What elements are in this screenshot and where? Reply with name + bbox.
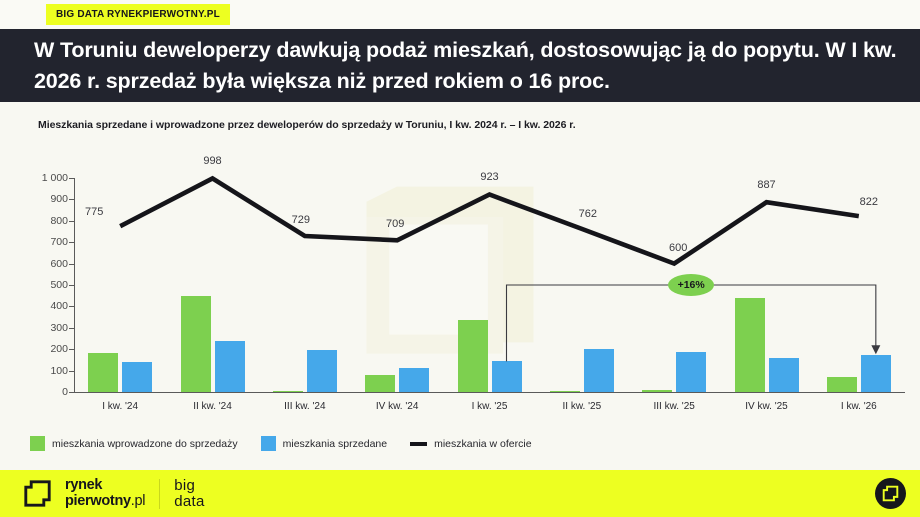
headline-band: W Toruniu deweloperzy dawkują podaż mies…	[0, 29, 920, 102]
bigdata-line-1: big	[174, 478, 204, 493]
chart-subtitle: Mieszkania sprzedane i wprowadzone przez…	[38, 119, 576, 131]
legend-item[interactable]: mieszkania wprowadzone do sprzedaży	[30, 436, 238, 451]
brand-tag: BIG DATA RYNEKPIERWOTNY.PL	[46, 4, 230, 25]
logo-line-1: rynek	[65, 478, 145, 494]
plot-region: I kw. '24II kw. '24III kw. '24IV kw. '24…	[0, 150, 920, 420]
chart-legend: mieszkania wprowadzone do sprzedażymiesz…	[30, 436, 546, 451]
logo-suffix: .pl	[131, 493, 145, 509]
black-line-icon	[410, 442, 427, 446]
legend-item-label: mieszkania wprowadzone do sprzedaży	[52, 438, 238, 450]
infographic-page: BIG DATA RYNEKPIERWOTNY.PL W Toruniu dew…	[0, 0, 920, 517]
growth-badge: +16%	[668, 274, 714, 296]
rynekpierwotny-mark-icon	[882, 485, 899, 502]
bigdata-wordmark: big data	[174, 478, 204, 509]
legend-item-label: mieszkania w ofercie	[434, 438, 531, 450]
rynekpierwotny-logo-icon	[24, 480, 51, 507]
legend-item[interactable]: mieszkania w ofercie	[410, 438, 531, 450]
brand-logo-group[interactable]: rynek pierwotny.pl big data	[24, 478, 205, 509]
bigdata-line-2: data	[174, 494, 204, 509]
growth-annotation-connector	[0, 150, 920, 420]
top-tag-row: BIG DATA RYNEKPIERWOTNY.PL	[0, 0, 920, 30]
legend-item[interactable]: mieszkania sprzedane	[261, 436, 387, 451]
logo-wordmark: rynek pierwotny.pl	[65, 478, 145, 509]
page-title: W Toruniu deweloperzy dawkują podaż mies…	[0, 35, 920, 96]
blue-square-icon	[261, 436, 276, 451]
chart-area: 01002003004005006007008009001 000 I kw. …	[0, 150, 920, 420]
footer-logo-badge[interactable]	[875, 478, 906, 509]
logo-line-2: pierwotny	[65, 493, 131, 509]
green-square-icon	[30, 436, 45, 451]
footer-bar: rynek pierwotny.pl big data Źródło: BIG …	[0, 470, 920, 517]
legend-item-label: mieszkania sprzedane	[283, 438, 387, 450]
logo-divider	[159, 479, 160, 509]
